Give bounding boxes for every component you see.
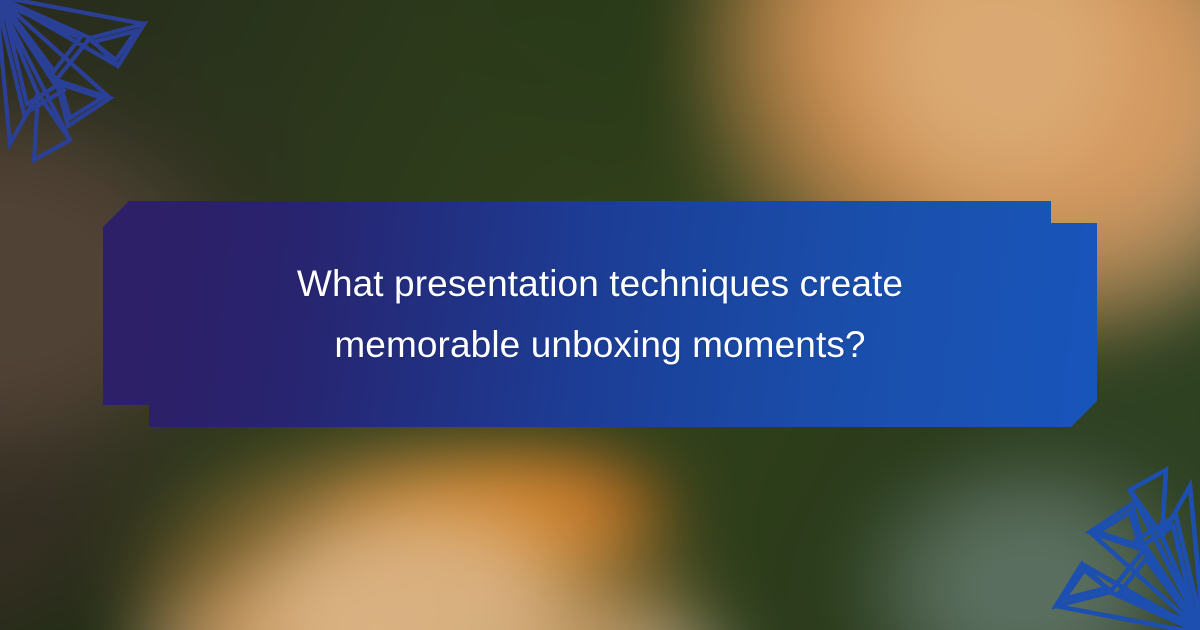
question-text-block: What presentation techniques create memo… — [103, 201, 1097, 427]
question-banner: What presentation techniques create memo… — [103, 201, 1097, 427]
question-line-1: What presentation techniques create — [297, 255, 903, 312]
question-line-2: memorable unboxing moments? — [334, 316, 865, 373]
question-card: What presentation techniques create memo… — [0, 0, 1200, 630]
